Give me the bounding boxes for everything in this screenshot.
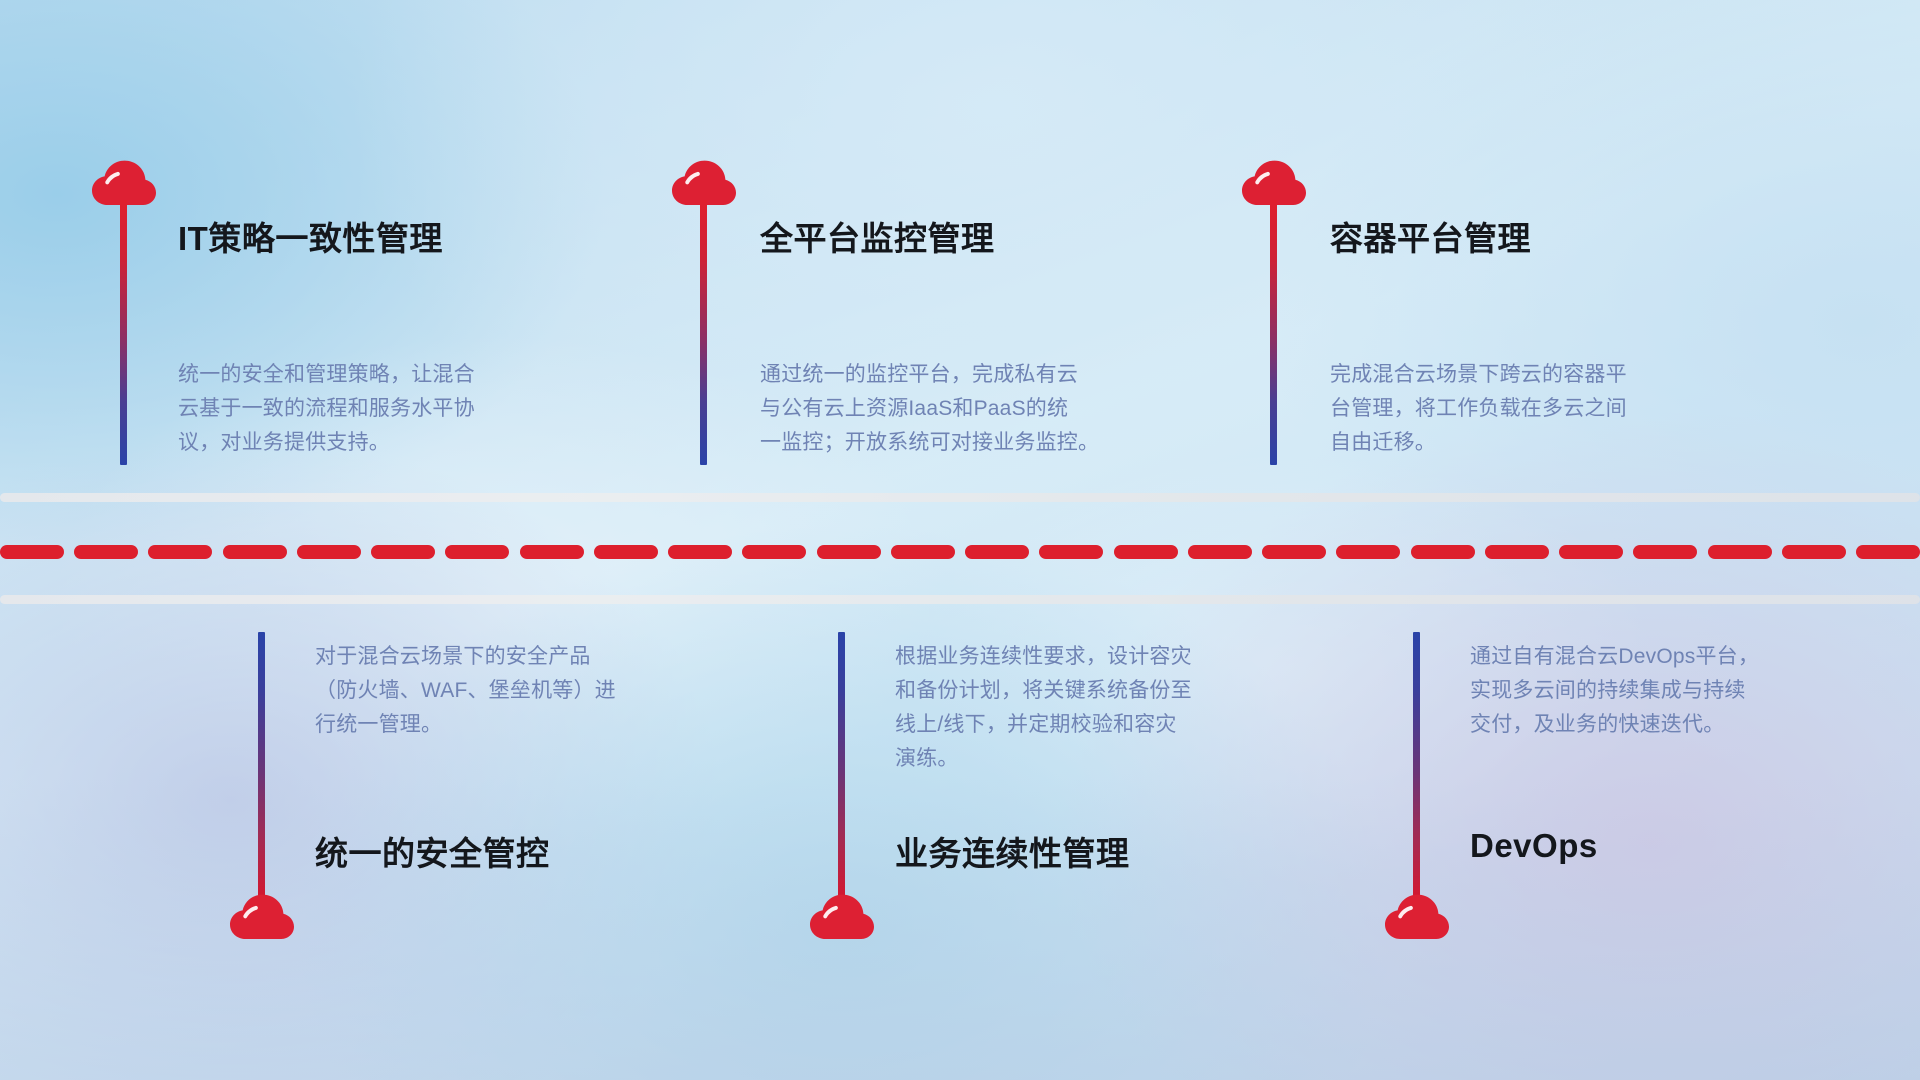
divider-dash [74, 545, 138, 559]
divider-dash [1485, 545, 1549, 559]
cloud-icon [230, 894, 294, 940]
divider-dash [1114, 545, 1178, 559]
divider-rule-lower [0, 595, 1920, 604]
accent-bar [1270, 200, 1277, 465]
bottom-heading-3: DevOps [1470, 827, 1598, 865]
divider-dash [965, 545, 1029, 559]
top-heading-3: 容器平台管理 [1330, 212, 1531, 260]
divider-dash [1411, 545, 1475, 559]
divider-dash [445, 545, 509, 559]
divider-dash [668, 545, 732, 559]
cloud-icon [810, 894, 874, 940]
divider-dashed-line [0, 545, 1920, 559]
divider-dash [1188, 545, 1252, 559]
divider-dash [148, 545, 212, 559]
divider-dash [817, 545, 881, 559]
top-heading-1: IT策略一致性管理 [178, 212, 443, 260]
divider-dash [371, 545, 435, 559]
divider-dash [594, 545, 658, 559]
accent-bar [120, 200, 127, 465]
divider-dash [1782, 545, 1846, 559]
bottom-body-3: 通过自有混合云DevOps平台， 实现多云间的持续集成与持续 交付，及业务的快速… [1470, 640, 1910, 742]
top-body-2: 通过统一的监控平台，完成私有云 与公有云上资源IaaS和PaaS的统 一监控；开… [760, 358, 1230, 460]
accent-bar [700, 200, 707, 465]
divider-dash [223, 545, 287, 559]
divider-dash [891, 545, 955, 559]
divider-dash [742, 545, 806, 559]
accent-bar [1413, 632, 1420, 900]
accent-bar [838, 632, 845, 900]
divider-dash [297, 545, 361, 559]
divider-dash [1336, 545, 1400, 559]
divider-dash [1262, 545, 1326, 559]
bottom-body-1: 对于混合云场景下的安全产品 （防火墙、WAF、堡垒机等）进 行统一管理。 [315, 640, 745, 742]
top-heading-2: 全平台监控管理 [760, 212, 995, 260]
accent-bar [258, 632, 265, 900]
divider-dash [1559, 545, 1623, 559]
divider-dash [1856, 545, 1920, 559]
divider-dash [520, 545, 584, 559]
top-body-3: 完成混合云场景下跨云的容器平 台管理，将工作负载在多云之间 自由迁移。 [1330, 358, 1780, 460]
top-body-1: 统一的安全和管理策略，让混合 云基于一致的流程和服务水平协 议，对业务提供支持。 [178, 358, 608, 460]
divider-dash [0, 545, 64, 559]
divider-dash [1708, 545, 1772, 559]
cloud-icon [1385, 894, 1449, 940]
divider-rule-upper [0, 493, 1920, 502]
bottom-heading-2: 业务连续性管理 [895, 827, 1130, 875]
bottom-body-2: 根据业务连续性要求，设计容灾 和备份计划，将关键系统备份至 线上/线下，并定期校… [895, 640, 1335, 776]
divider-dash [1039, 545, 1103, 559]
bottom-heading-1: 统一的安全管控 [315, 827, 550, 875]
divider-dash [1633, 545, 1697, 559]
